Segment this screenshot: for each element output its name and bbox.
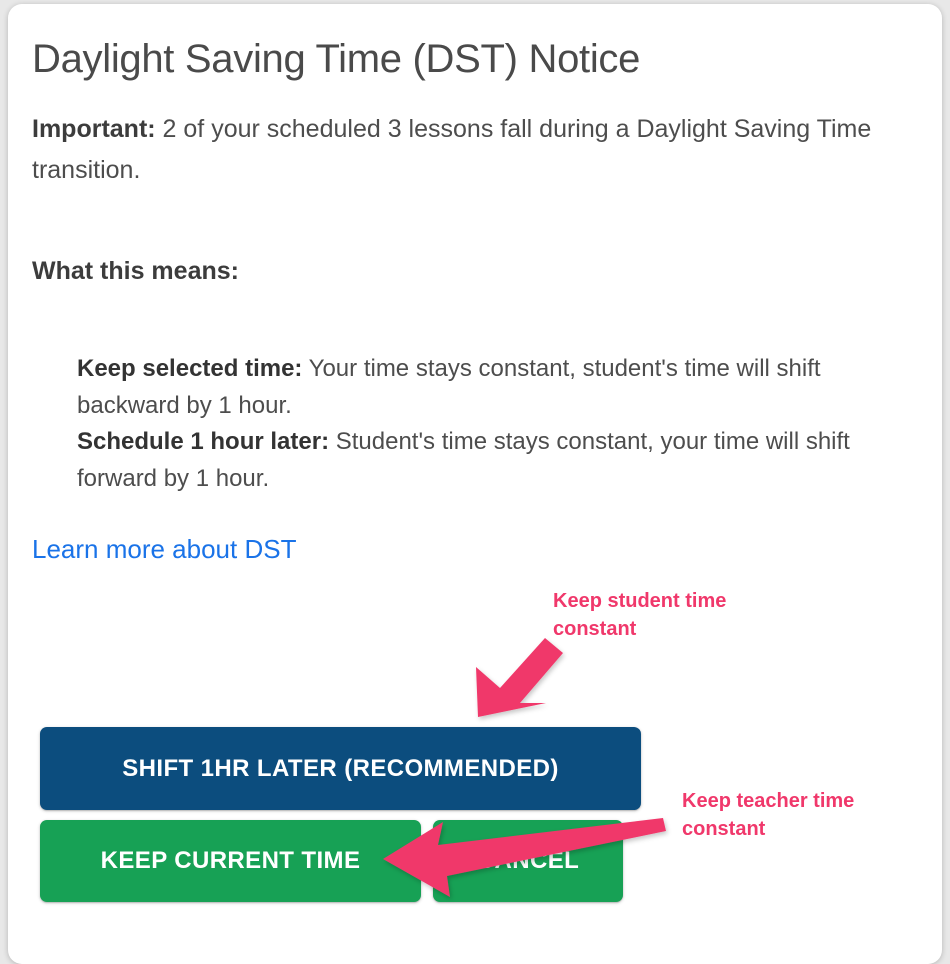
list-item: Schedule 1 hour later: Student's time st… — [77, 424, 918, 497]
secondary-actions-row: KEEP CURRENT TIME CANCEL — [40, 820, 920, 902]
means-list: Keep selected time: Your time stays cons… — [32, 289, 918, 497]
what-this-means-heading: What this means: — [32, 190, 918, 289]
keep-current-time-button[interactable]: KEEP CURRENT TIME — [40, 820, 421, 902]
dst-notice-dialog: Daylight Saving Time (DST) Notice Import… — [8, 4, 942, 964]
list-item: Keep selected time: Your time stays cons… — [77, 351, 918, 424]
screenshot-stage: Daylight Saving Time (DST) Notice Import… — [0, 0, 950, 936]
intro-paragraph: Important: 2 of your scheduled 3 lessons… — [32, 83, 918, 190]
shift-1hr-later-button[interactable]: SHIFT 1HR LATER (RECOMMENDED) — [40, 727, 641, 810]
intro-lead-label: Important: — [32, 115, 156, 143]
means-item-term: Keep selected time: — [77, 355, 302, 382]
page-title: Daylight Saving Time (DST) Notice — [32, 4, 918, 83]
cancel-button[interactable]: CANCEL — [433, 820, 623, 902]
dialog-content: Daylight Saving Time (DST) Notice Import… — [8, 4, 942, 567]
intro-body-text: 2 of your scheduled 3 lessons fall durin… — [32, 115, 871, 184]
means-item-term: Schedule 1 hour later: — [77, 428, 329, 455]
dialog-actions: SHIFT 1HR LATER (RECOMMENDED) KEEP CURRE… — [40, 727, 920, 902]
learn-more-about-dst-link[interactable]: Learn more about DST — [32, 533, 296, 567]
